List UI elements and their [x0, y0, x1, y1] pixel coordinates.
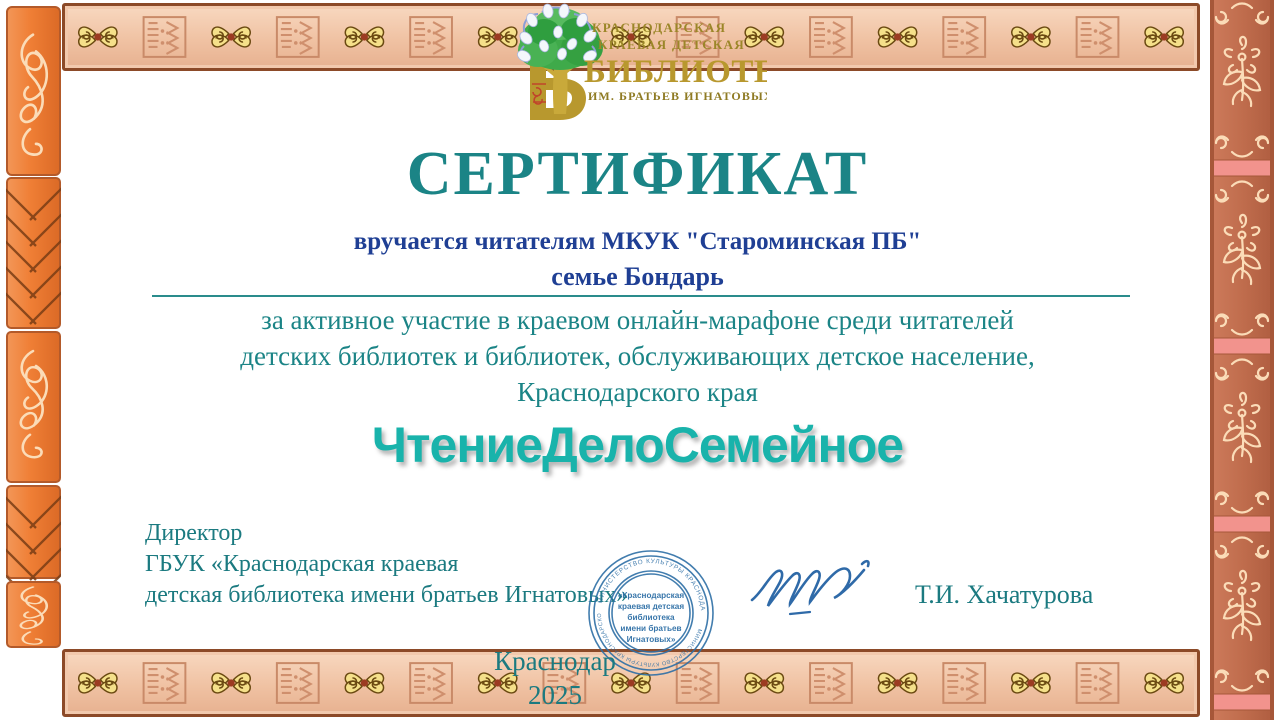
left-lattice-panel-1: [6, 178, 61, 328]
left-ornamental-border: [6, 6, 61, 648]
divider: [152, 295, 1130, 297]
library-logo: КРАСНОДАРСКАЯ КРАЕВАЯ ДЕТСКАЯ БИБЛИОТЕКА…: [502, 2, 767, 130]
swirl-lattice-pattern-svg: [6, 6, 61, 648]
campaign-slogan: ЧтениеДелоСемейное: [70, 416, 1205, 474]
logo-line-3: БИБЛИОТЕКА: [584, 54, 767, 90]
seal-center-line-1: «Краснодарская: [618, 591, 684, 600]
logo-line-4: ИМ. БРАТЬЕВ ИГНАТОВЫХ: [588, 89, 767, 103]
left-swirl-panel-1: [7, 7, 60, 175]
logo-line-2: КРАЕВАЯ ДЕТСКАЯ: [598, 37, 745, 52]
recipient-organization: вручается читателям МКУК "Староминская П…: [70, 228, 1205, 256]
left-swirl-panel-3: [7, 582, 60, 647]
signatory-role: Директор: [145, 518, 628, 549]
right-ornamental-border: [1210, 0, 1274, 720]
body-line-1: за активное участие в краевом онлайн-мар…: [70, 302, 1205, 338]
logo-line-1: КРАСНОДАРСКАЯ: [592, 20, 726, 35]
body-line-3: Краснодарского края: [70, 374, 1205, 410]
city-label: Краснодар: [425, 644, 685, 678]
library-logo-svg: КРАСНОДАРСКАЯ КРАЕВАЯ ДЕТСКАЯ БИБЛИОТЕКА…: [502, 2, 767, 130]
floral-pattern-svg: [1212, 0, 1272, 720]
signatory-org-line-1: ГБУК «Краснодарская краевая: [145, 549, 628, 580]
page-title: СЕРТИФИКАТ: [70, 143, 1205, 205]
recipient-name: семье Бондарь: [70, 262, 1205, 292]
signatory-org-line-2: детская библиотека имени братьев Игнатов…: [145, 580, 628, 611]
seal-center-line-3: библиотека: [627, 612, 675, 622]
certificate-content: КРАСНОДАРСКАЯ КРАЕВАЯ ДЕТСКАЯ БИБЛИОТЕКА…: [70, 0, 1205, 720]
handwritten-signature: [746, 548, 906, 628]
seal-center-line-4: имени братьев: [620, 623, 681, 633]
signatory-name: Т.И. Хачатурова: [915, 580, 1093, 610]
handwritten-signature-icon: [746, 548, 906, 628]
year-label: 2025: [425, 678, 685, 712]
certificate-body: за активное участие в краевом онлайн-мар…: [70, 302, 1205, 410]
place-and-date: Краснодар 2025: [425, 644, 685, 712]
seal-center-line-2: краевая детская: [618, 602, 684, 611]
left-swirl-panel-2: [7, 332, 60, 482]
body-line-2: детских библиотек и библиотек, обслужива…: [70, 338, 1205, 374]
certificate-page: КРАСНОДАРСКАЯ КРАЕВАЯ ДЕТСКАЯ БИБЛИОТЕКА…: [0, 0, 1280, 720]
signatory-block: Директор ГБУК «Краснодарская краевая дет…: [145, 518, 628, 611]
seal-center-line-5: Игнатовых»: [627, 635, 676, 644]
